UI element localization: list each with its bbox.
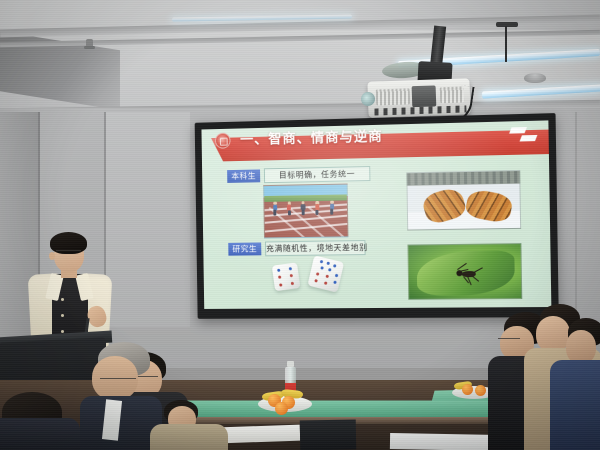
runner (315, 201, 320, 215)
seated-student-blue-jacket (566, 318, 600, 450)
eyeglasses-icon (100, 378, 136, 379)
head (566, 330, 596, 364)
sprinkler-head (86, 39, 93, 48)
slide-title: 一、智商、情商与逆商 (240, 127, 383, 150)
projection-screen[interactable]: 一、智商、情商与逆商 本科生 目标明确，任务统一 研究生 充满随机性，境地天差地… (195, 113, 559, 319)
ant-on-leaf-photo (407, 243, 522, 300)
slide-text-graduate: 充满随机性，境地天差地别 (265, 240, 366, 256)
torso (0, 418, 80, 450)
documents[interactable] (390, 433, 500, 450)
eyeglasses-icon (56, 250, 81, 256)
lecture-room-scene: 一、智商、情商与逆商 本科生 目标明确，任务统一 研究生 充满随机性，境地天差地… (0, 0, 600, 450)
parallelogram-decoration-icon (509, 127, 527, 134)
seated-attendee-foreground (0, 392, 80, 450)
torso (550, 360, 600, 450)
presentation-slide: 一、智商、情商与逆商 本科生 目标明确，任务统一 研究生 充满随机性，境地天差地… (201, 120, 551, 309)
seated-attendee-beige-coat (148, 400, 238, 450)
parallelogram-decoration-icon (520, 135, 538, 142)
running-track-photo (263, 183, 348, 238)
jacket-button (61, 314, 64, 317)
orange (275, 402, 288, 415)
screen-surface: 一、智商、情商与逆商 本科生 目标明确，任务统一 研究生 充满随机性，境地天差地… (201, 120, 551, 309)
eyeglasses-icon (498, 338, 520, 339)
runner (273, 201, 278, 215)
runner (287, 202, 292, 216)
laptop[interactable] (300, 420, 357, 450)
head (536, 316, 570, 352)
dice-right (307, 255, 344, 292)
slide-text-undergraduate: 目标明确，任务统一 (264, 166, 371, 183)
ear (49, 252, 55, 260)
orange (462, 384, 473, 395)
projector-vent (376, 88, 411, 105)
ceiling-speaker-dome (524, 73, 546, 83)
jacket-button (61, 298, 64, 301)
orange (475, 385, 486, 396)
runner (329, 200, 334, 214)
runner (300, 201, 305, 215)
ceiling-cable-hook (496, 22, 518, 27)
ceiling (0, 0, 600, 122)
fighting-tigers-photo (406, 170, 521, 231)
slide-chip-graduate: 研究生 (228, 242, 261, 255)
dice-left (272, 262, 301, 291)
tree-line (407, 171, 519, 186)
wall-seam (575, 112, 577, 322)
slide-chip-undergraduate: 本科生 (227, 169, 260, 182)
bottle-cap (287, 361, 294, 367)
torso (150, 424, 228, 450)
